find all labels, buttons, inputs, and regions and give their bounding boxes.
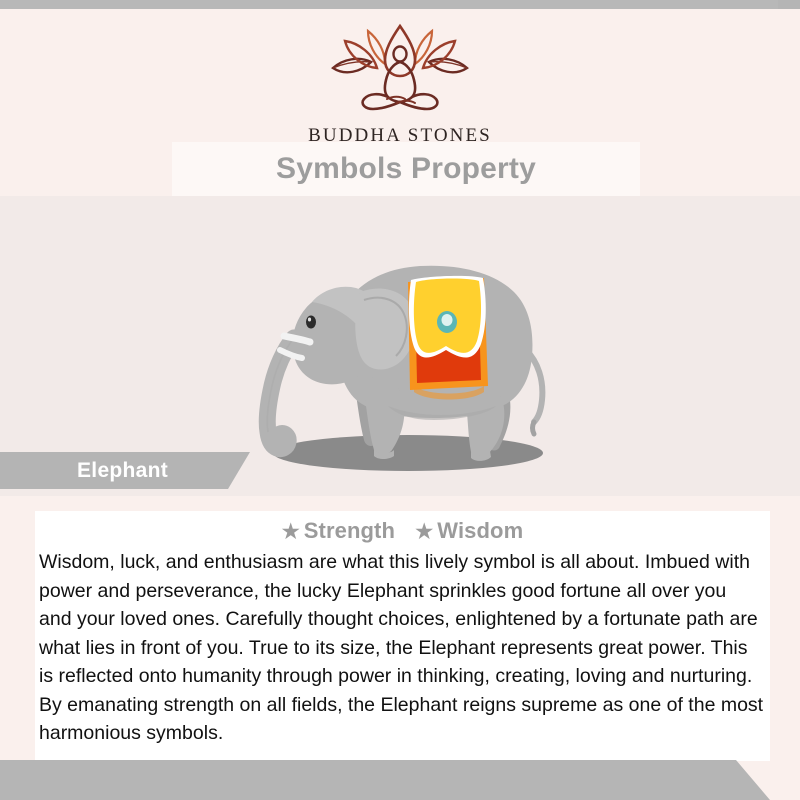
page-title: Symbols Property	[276, 152, 536, 186]
property-wisdom-label: Wisdom	[437, 518, 523, 543]
property-wisdom: ★Wisdom	[415, 518, 523, 544]
page-title-band: Symbols Property	[172, 142, 640, 196]
lotus-meditation-icon	[325, 23, 475, 113]
property-strength-label: Strength	[304, 518, 395, 543]
frame-bottom-bar	[0, 760, 770, 800]
symbols-property-infographic: BUDDHA STONES Symbols Property	[0, 0, 800, 800]
symbol-name-banner: Elephant	[0, 452, 250, 489]
property-strength: ★Strength	[282, 518, 395, 544]
symbol-name: Elephant	[77, 459, 168, 483]
star-icon: ★	[282, 519, 300, 544]
brand-logo	[0, 23, 800, 118]
description-text: Wisdom, luck, and enthusiasm are what th…	[39, 548, 764, 748]
frame-top-bar	[0, 0, 800, 9]
star-icon: ★	[415, 519, 433, 544]
illustration-panel	[0, 196, 800, 496]
properties-row: ★Strength ★Wisdom	[35, 518, 770, 544]
description-card: ★Strength ★Wisdom Wisdom, luck, and enth…	[35, 511, 770, 761]
walking-elephant-illustration	[238, 210, 568, 490]
